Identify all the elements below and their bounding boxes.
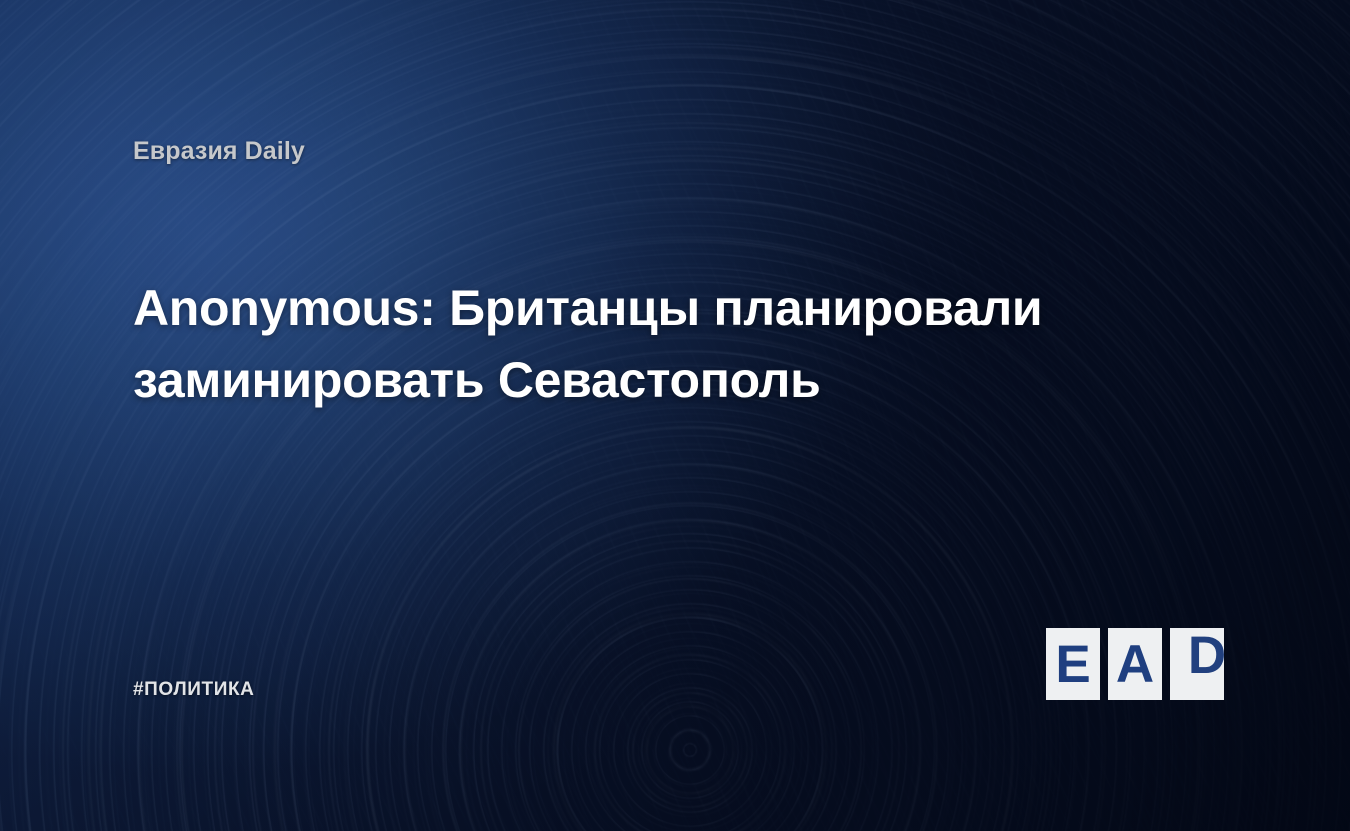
news-card: Евразия Daily Anonymous: Британцы планир… bbox=[0, 0, 1350, 831]
headline-title: Anonymous: Британцы планировали заминиро… bbox=[133, 272, 1143, 416]
card-content: Евразия Daily Anonymous: Британцы планир… bbox=[0, 0, 1350, 831]
ead-logo: E A D D bbox=[1046, 628, 1224, 700]
logo-tile-d: D D bbox=[1170, 628, 1232, 714]
logo-tile-a: A bbox=[1108, 628, 1162, 700]
category-hashtag: #ПОЛИТИКА bbox=[133, 679, 255, 701]
logo-letter-e: E bbox=[1046, 628, 1100, 700]
logo-letter-d: D bbox=[1180, 619, 1234, 691]
logo-letter-a: A bbox=[1108, 628, 1162, 700]
brand-name: Евразия Daily bbox=[133, 137, 305, 166]
logo-tile-e: E bbox=[1046, 628, 1100, 700]
